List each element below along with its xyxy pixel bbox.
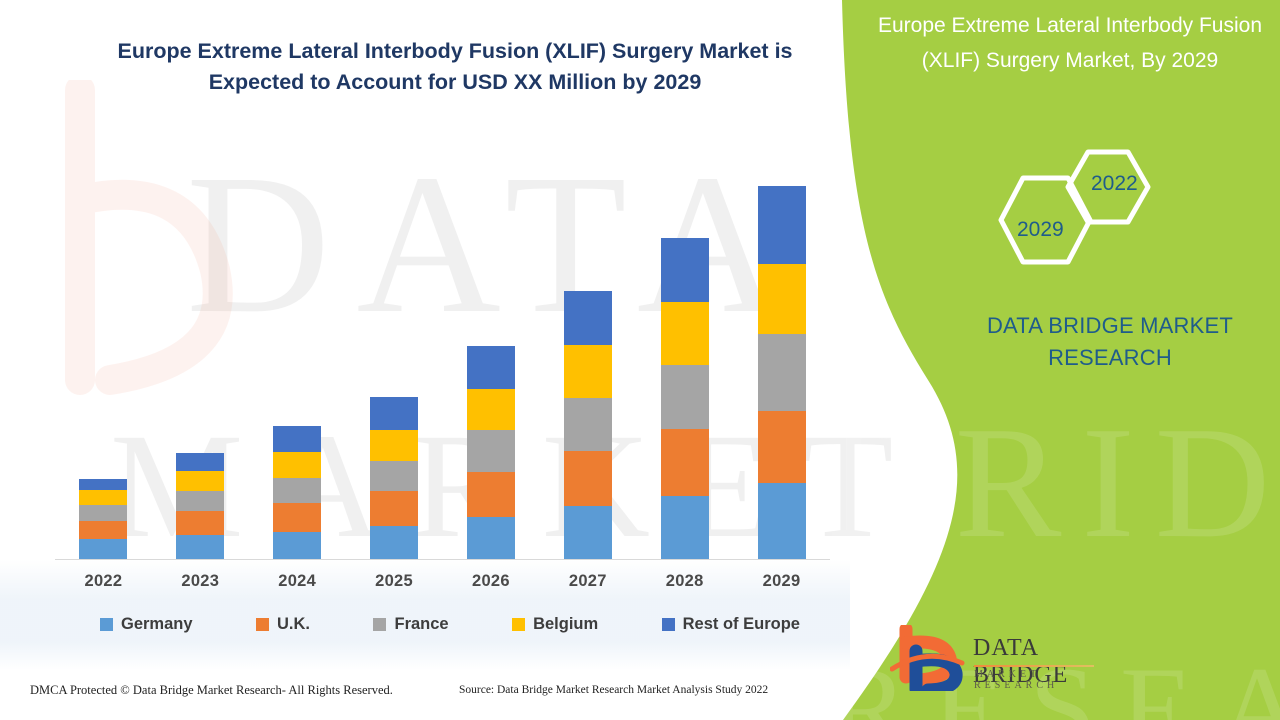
legend-swatch-icon	[512, 618, 525, 631]
brand-name: DATA BRIDGE MARKET RESEARCH	[950, 310, 1270, 374]
bar-segment-germany	[564, 506, 612, 559]
bar-segment-france	[370, 461, 418, 491]
x-tick-2025: 2025	[346, 572, 442, 591]
logo-subtitle: MARKET RESEARCH	[974, 669, 1100, 691]
hexagon-group: 2022 2029	[975, 145, 1175, 285]
legend-item-belgium[interactable]: Belgium	[512, 615, 598, 634]
x-axis-line	[55, 559, 830, 560]
footer-source: Source: Data Bridge Market Research Mark…	[459, 684, 768, 696]
legend-label: Rest of Europe	[683, 615, 800, 634]
bar-segment-u-k	[564, 451, 612, 506]
bar-column	[249, 161, 345, 559]
legend-swatch-icon	[100, 618, 113, 631]
bar-segment-rest-of-europe	[176, 453, 224, 471]
stacked-bar-2025[interactable]	[370, 397, 418, 559]
bar-column	[443, 161, 539, 559]
company-logo: DATA BRIDGE MARKET RESEARCH	[890, 625, 1100, 693]
bar-segment-rest-of-europe	[273, 426, 321, 452]
bar-segment-germany	[79, 539, 127, 559]
bar-segment-rest-of-europe	[564, 291, 612, 345]
bar-segment-germany	[273, 532, 321, 559]
bar-column	[152, 161, 248, 559]
hexagon-2022-label: 2022	[1091, 172, 1138, 196]
bar-segment-france	[661, 365, 709, 429]
bar-segment-belgium	[564, 345, 612, 398]
stacked-bar-2024[interactable]	[273, 426, 321, 559]
footer-copyright: DMCA Protected © Data Bridge Market Rese…	[30, 683, 393, 698]
hexagons-svg	[975, 145, 1175, 285]
bar-segment-rest-of-europe	[79, 479, 127, 490]
bar-segment-rest-of-europe	[467, 346, 515, 389]
bar-segment-belgium	[176, 471, 224, 491]
bar-column	[55, 161, 151, 559]
bar-segment-belgium	[467, 389, 515, 430]
bar-column	[346, 161, 442, 559]
bar-segment-germany	[467, 517, 515, 559]
x-tick-2028: 2028	[637, 572, 733, 591]
legend-swatch-icon	[373, 618, 386, 631]
bar-segment-u-k	[758, 411, 806, 483]
x-tick-2026: 2026	[443, 572, 539, 591]
stacked-bar-2022[interactable]	[79, 479, 127, 559]
stacked-bar-group	[55, 161, 830, 559]
logo-divider	[974, 665, 1094, 667]
x-tick-2027: 2027	[540, 572, 636, 591]
bar-segment-germany	[370, 526, 418, 559]
bar-segment-france	[176, 491, 224, 511]
panel-title: Europe Extreme Lateral Interbody Fusion …	[868, 8, 1272, 78]
page-title: Europe Extreme Lateral Interbody Fusion …	[70, 36, 840, 98]
bar-segment-rest-of-europe	[758, 186, 806, 264]
bar-segment-france	[467, 430, 515, 472]
bar-segment-belgium	[79, 490, 127, 505]
legend-item-france[interactable]: France	[373, 615, 448, 634]
bar-segment-belgium	[661, 302, 709, 365]
bar-segment-belgium	[758, 264, 806, 334]
bar-segment-rest-of-europe	[370, 397, 418, 430]
bar-segment-belgium	[370, 430, 418, 461]
footer: DMCA Protected © Data Bridge Market Rese…	[0, 683, 860, 711]
logo-mark-icon	[890, 625, 970, 691]
bar-segment-germany	[176, 535, 224, 559]
bar-segment-u-k	[467, 472, 515, 517]
bar-segment-u-k	[661, 429, 709, 496]
bar-segment-rest-of-europe	[661, 238, 709, 302]
x-axis-tick-labels: 20222023202420252026202720282029	[55, 572, 830, 591]
legend-item-germany[interactable]: Germany	[100, 615, 193, 634]
hexagon-2029-label: 2029	[1017, 218, 1064, 242]
stacked-bar-2028[interactable]	[661, 238, 709, 559]
bar-segment-u-k	[370, 491, 418, 526]
bar-segment-germany	[661, 496, 709, 559]
stacked-bar-2023[interactable]	[176, 453, 224, 559]
chart-legend: GermanyU.K.FranceBelgiumRest of Europe	[100, 615, 800, 634]
x-tick-2024: 2024	[249, 572, 345, 591]
legend-item-u-k[interactable]: U.K.	[256, 615, 310, 634]
bar-segment-u-k	[176, 511, 224, 535]
bar-segment-u-k	[79, 521, 127, 539]
bar-segment-france	[564, 398, 612, 451]
stacked-bar-2026[interactable]	[467, 346, 515, 559]
legend-label: France	[394, 615, 448, 634]
bar-segment-u-k	[273, 503, 321, 532]
legend-label: Belgium	[533, 615, 598, 634]
stacked-bar-2029[interactable]	[758, 186, 806, 559]
bar-segment-france	[273, 478, 321, 503]
legend-label: Germany	[121, 615, 193, 634]
bar-column	[540, 161, 636, 559]
legend-label: U.K.	[277, 615, 310, 634]
legend-swatch-icon	[256, 618, 269, 631]
bar-segment-germany	[758, 483, 806, 559]
bar-segment-france	[758, 334, 806, 411]
x-tick-2023: 2023	[152, 572, 248, 591]
legend-swatch-icon	[662, 618, 675, 631]
chart-plot-area	[55, 160, 830, 560]
infographic-canvas: DATA MARKET Europe Extreme Lateral Inter…	[0, 0, 1280, 720]
bar-segment-france	[79, 505, 127, 521]
x-tick-2022: 2022	[55, 572, 151, 591]
legend-item-rest-of-europe[interactable]: Rest of Europe	[662, 615, 800, 634]
bar-column	[637, 161, 733, 559]
stacked-bar-2027[interactable]	[564, 291, 612, 559]
bar-segment-belgium	[273, 452, 321, 478]
